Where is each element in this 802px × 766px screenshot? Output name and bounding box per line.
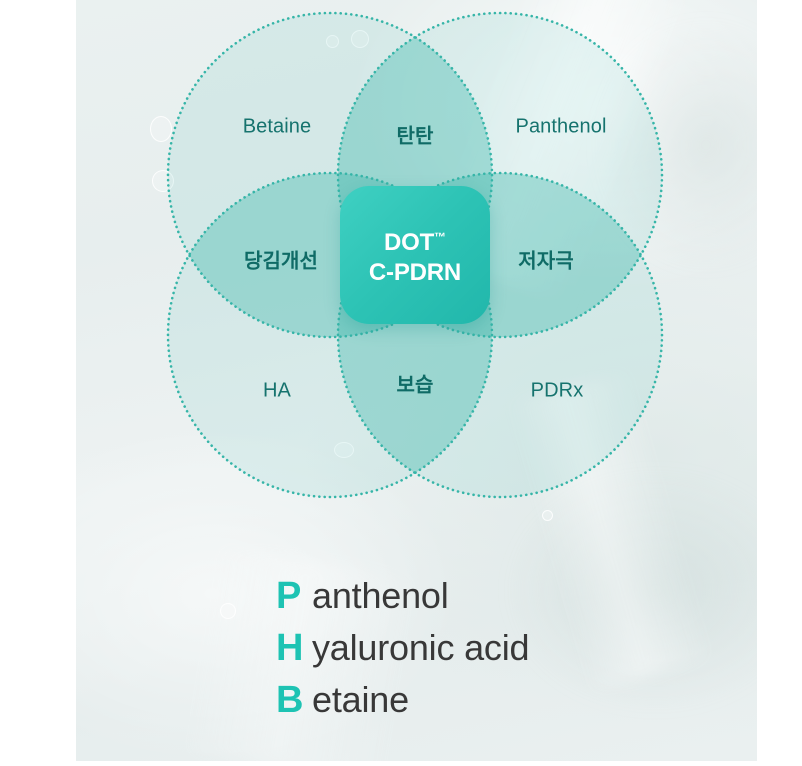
center-badge: DOT™ C-PDRN: [340, 186, 490, 324]
acronym-initial-p: P: [276, 575, 310, 617]
acronym-row-panthenol: P anthenol: [0, 575, 802, 627]
badge-line-primary: DOT™: [384, 222, 446, 258]
diagram-canvas: Betaine Panthenol HA PDRx 탄탄 당김개선 저자극 보습…: [0, 0, 802, 766]
badge-line-secondary: C-PDRN: [369, 258, 461, 288]
venn-label-top-left: Betaine: [243, 116, 312, 139]
venn-label-bottom-right: PDRx: [531, 380, 584, 403]
venn-label-intersection-right: 저자극: [518, 245, 574, 274]
trademark-symbol: ™: [434, 230, 446, 244]
acronym-initial-b: B: [276, 679, 310, 721]
venn-label-intersection-bottom: 보습: [397, 369, 434, 398]
acronym-text-hyaluronic-acid: yaluronic acid: [312, 627, 529, 669]
acronym-text-betaine: etaine: [312, 679, 409, 721]
badge-brand-name: DOT: [384, 229, 434, 256]
acronym-list: P anthenol H yaluronic acid B etaine: [0, 575, 802, 731]
acronym-row-betaine: B etaine: [0, 679, 802, 731]
venn-label-intersection-left: 당김개선: [244, 245, 318, 274]
acronym-initial-h: H: [276, 627, 310, 669]
venn-label-intersection-top: 탄탄: [397, 120, 434, 149]
venn-label-top-right: Panthenol: [516, 116, 607, 139]
venn-label-bottom-left: HA: [263, 380, 291, 403]
acronym-text-panthenol: anthenol: [312, 575, 449, 617]
acronym-row-hyaluronic-acid: H yaluronic acid: [0, 627, 802, 679]
